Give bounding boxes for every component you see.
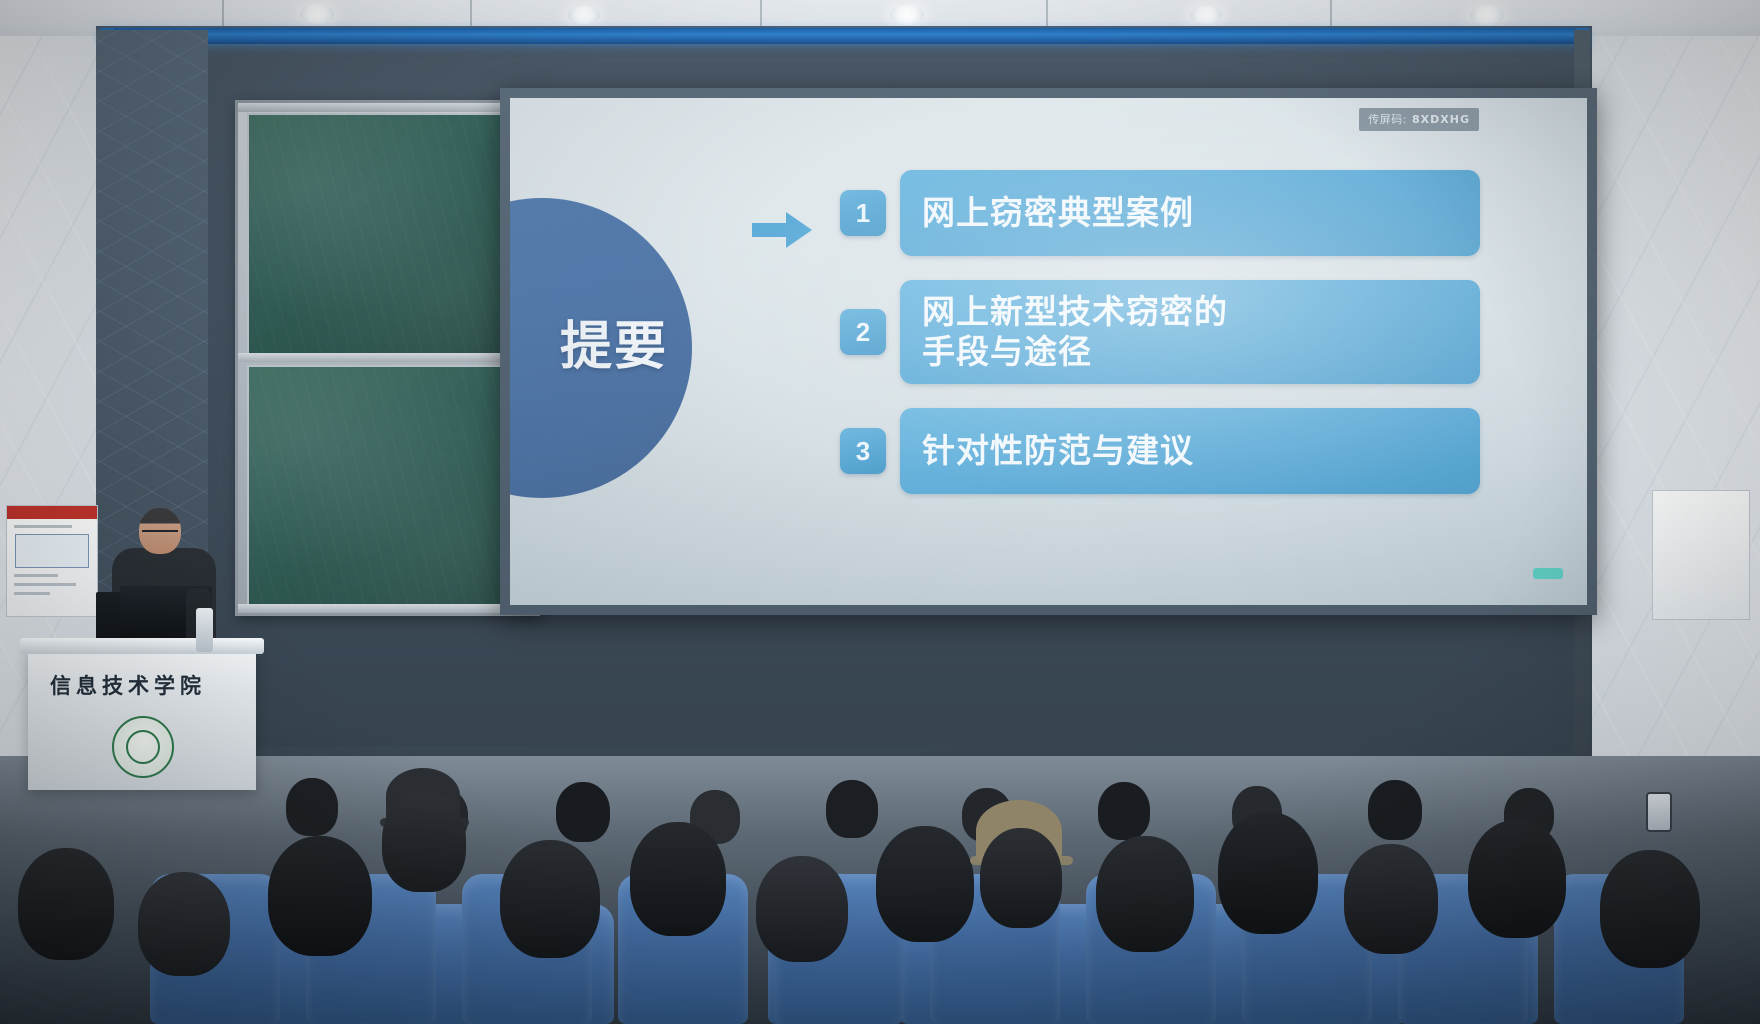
slide-items-list: 1 网上窃密典型案例 2 网上新型技术窃密的 手段与途径 3 [840, 170, 1480, 518]
presenter-glasses [142, 530, 178, 538]
podium: 信息技术学院 [28, 648, 256, 790]
wall-poster [6, 505, 98, 617]
slide-title-circle: 提要 [510, 198, 692, 498]
lecture-hall-scene: 传屏码: 8XDXHG 提要 1 网上窃密典型案例 [0, 0, 1760, 1024]
audience-head [18, 848, 114, 960]
slide-item-line: 网上新型技术窃密的 [922, 292, 1228, 332]
audience-head [1344, 844, 1438, 954]
slide-item-line: 手段与途径 [922, 332, 1228, 372]
slide-item-text: 针对性防范与建议 [900, 408, 1480, 494]
slide-item-number: 2 [840, 309, 886, 355]
blackboard-pane-upper [247, 113, 531, 358]
slide-title-text: 提要 [560, 320, 668, 375]
school-emblem [112, 716, 174, 778]
side-whiteboard [1652, 490, 1750, 620]
cast-code-value: 8XDXHG [1412, 113, 1470, 126]
audience-head [756, 856, 848, 962]
audience-head [1218, 812, 1318, 934]
audience-head [138, 872, 230, 976]
right-arrow-icon [752, 210, 814, 250]
audience-head [500, 840, 600, 958]
ceiling-light [1470, 5, 1504, 25]
right-wall [1580, 36, 1760, 776]
ceiling-light [568, 6, 600, 24]
podium-institution-label: 信息技术学院 [50, 670, 206, 700]
audience-head [630, 822, 726, 936]
projection-screen-frame: 传屏码: 8XDXHG 提要 1 网上窃密典型案例 [500, 88, 1597, 615]
decorative-dash [1533, 568, 1563, 579]
projected-slide: 传屏码: 8XDXHG 提要 1 网上窃密典型案例 [510, 98, 1587, 605]
slide-item: 2 网上新型技术窃密的 手段与途径 [840, 280, 1480, 384]
blackboard-pane-lower [247, 365, 531, 609]
ceiling-light [1190, 6, 1222, 24]
ceiling-light [300, 4, 334, 24]
slide-item-text: 网上新型技术窃密的 手段与途径 [900, 280, 1480, 384]
slide-item-text: 网上窃密典型案例 [900, 170, 1480, 256]
phone-held-up [1646, 792, 1672, 832]
audience-head [1600, 850, 1700, 968]
audience-head [876, 826, 974, 942]
slide-item-number: 1 [840, 190, 886, 236]
ceiling-light [890, 5, 924, 25]
audience-head [1096, 836, 1194, 952]
water-bottle [196, 608, 213, 652]
slide-item-number: 3 [840, 428, 886, 474]
cast-code-label: 传屏码: [1368, 111, 1407, 127]
audience-head [1468, 820, 1566, 938]
slide-item: 3 针对性防范与建议 [840, 408, 1480, 494]
audience-head [268, 836, 372, 956]
slide-item: 1 网上窃密典型案例 [840, 170, 1480, 256]
audience-head [382, 792, 466, 892]
cast-code-badge: 传屏码: 8XDXHG [1359, 108, 1479, 131]
led-strip-top [100, 28, 1588, 44]
audience-head [980, 828, 1062, 928]
blackboard [235, 100, 540, 616]
